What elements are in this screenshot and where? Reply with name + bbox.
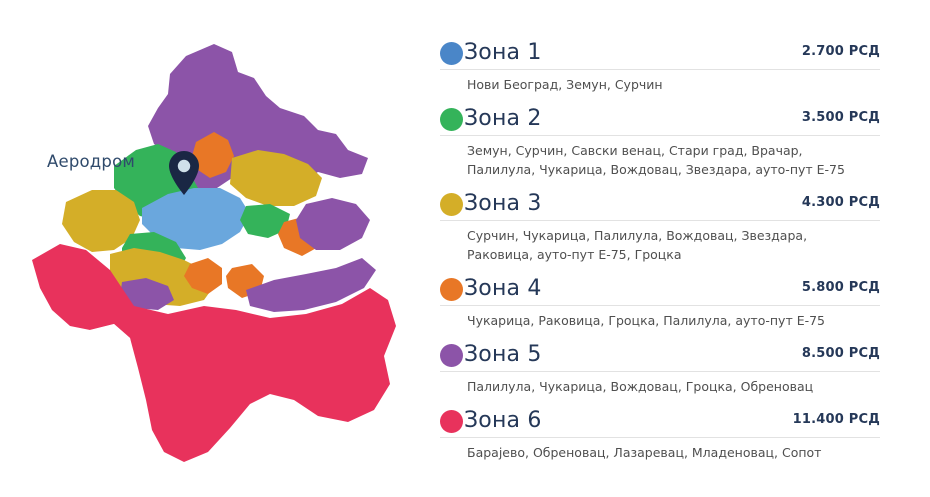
zone-list-item[interactable]: Зона 3 4.300 РСД Сурчин, Чукарица, Палил… (440, 191, 880, 264)
zone-list-item[interactable]: Зона 5 8.500 РСД Палилула, Чукарица, Вож… (440, 342, 880, 396)
zone-price: 3.500 РСД (802, 110, 880, 128)
zone-list-item[interactable]: Зона 2 3.500 РСД Земун, Сурчин, Савски в… (440, 106, 880, 179)
airport-label: Аеродром (47, 152, 135, 171)
zone-areas: Палилула, Чукарица, Вождовац, Гроцка, Об… (467, 377, 857, 396)
zone-header: Зона 4 5.800 РСД (440, 276, 880, 306)
zone-header: Зона 1 2.700 РСД (440, 40, 880, 70)
map-region-zone5-east[interactable] (296, 198, 370, 250)
zone-header: Зона 5 8.500 РСД (440, 342, 880, 372)
zone-title: Зона 2 (464, 106, 542, 132)
zone-areas: Барајево, Обреновац, Лазаревац, Младенов… (467, 443, 857, 462)
zone-header: Зона 2 3.500 РСД (440, 106, 880, 136)
zone-title: Зона 5 (464, 342, 542, 368)
zone-list-item[interactable]: Зона 1 2.700 РСД Нови Београд, Земун, Су… (440, 40, 880, 94)
zone-header: Зона 3 4.300 РСД (440, 191, 880, 221)
zone-areas: Земун, Сурчин, Савски венац, Стари град,… (467, 141, 857, 179)
zone-color-dot-1 (440, 42, 463, 65)
zone-price: 5.800 РСД (802, 280, 880, 298)
zone-areas: Чукарица, Раковица, Гроцка, Палилула, ау… (467, 311, 857, 330)
zone-list-item[interactable]: Зона 4 5.800 РСД Чукарица, Раковица, Гро… (440, 276, 880, 330)
zone-legend-list: Зона 1 2.700 РСД Нови Београд, Земун, Су… (440, 40, 880, 474)
map-panel: Аеродром (0, 0, 430, 497)
zone-header: Зона 6 11.400 РСД (440, 408, 880, 438)
zone-list-item[interactable]: Зона 6 11.400 РСД Барајево, Обреновац, Л… (440, 408, 880, 462)
zone-title: Зона 4 (464, 276, 542, 302)
zone-title: Зона 3 (464, 191, 542, 217)
zone-title: Зона 1 (464, 40, 542, 66)
zone-price: 4.300 РСД (802, 195, 880, 213)
zone-color-dot-2 (440, 108, 463, 131)
zone-price: 2.700 РСД (802, 44, 880, 62)
zone-price: 8.500 РСД (802, 346, 880, 364)
zone-areas: Нови Београд, Земун, Сурчин (467, 75, 857, 94)
zone-color-dot-3 (440, 193, 463, 216)
zone-areas: Сурчин, Чукарица, Палилула, Вождовац, Зв… (467, 226, 857, 264)
zone-color-dot-4 (440, 278, 463, 301)
zone-price: 11.400 РСД (793, 412, 880, 430)
zone-color-dot-5 (440, 344, 463, 367)
zone-title: Зона 6 (464, 408, 542, 434)
zone-color-dot-6 (440, 410, 463, 433)
belgrade-zones-map[interactable] (18, 38, 418, 468)
